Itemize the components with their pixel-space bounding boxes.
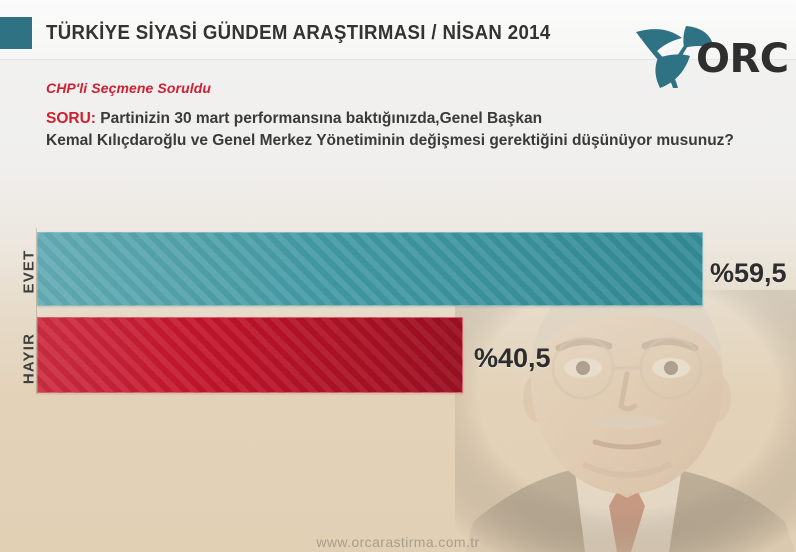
orc-logo: ORC	[624, 18, 784, 90]
audience-note: CHP'li Seçmene Soruldu	[46, 80, 211, 96]
survey-question: SORU: Partinizin 30 mart performansına b…	[46, 108, 786, 152]
bar-hayir	[37, 317, 463, 393]
header-accent-swatch	[0, 17, 32, 49]
survey-poster: EVET %59,5 HAYIR %40,5 TÜRKİYE SİYASİ GÜ…	[0, 0, 796, 552]
question-line-1: Partinizin 30 mart performansına baktığı…	[96, 110, 542, 127]
question-prefix: SORU:	[46, 110, 96, 127]
logo-wordmark: ORC	[696, 36, 789, 82]
bar-value-evet: %59,5	[710, 258, 787, 289]
question-line-2: Kemal Kılıçdaroğlu ve Genel Merkez Yönet…	[46, 132, 734, 149]
page-title: TÜRKİYE SİYASİ GÜNDEM ARAŞTIRMASI / NİSA…	[46, 22, 551, 45]
bar-category-label-evet: EVET	[21, 240, 38, 304]
bar-evet	[37, 232, 703, 306]
bar-value-hayir: %40,5	[474, 343, 551, 374]
bar-category-label-hayir: HAYIR	[21, 327, 38, 391]
